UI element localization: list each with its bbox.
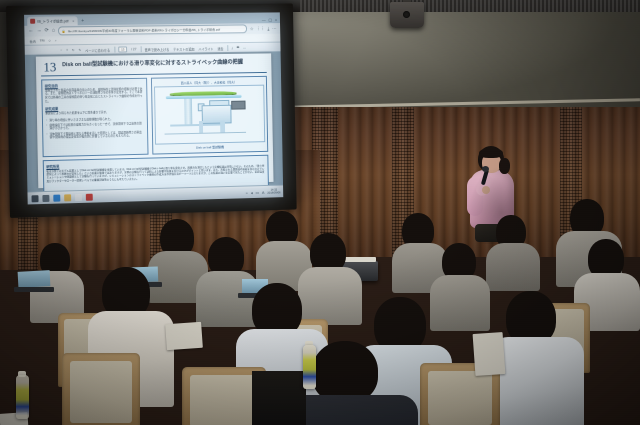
ceiling-grille: [300, 0, 640, 12]
tab-title: 06_トライボ総合.pdf: [37, 18, 68, 23]
lecture-hall-photo: 06_トライボ総合.pdf × + — ▢ × ← → ⟳ ⌂: [0, 0, 640, 425]
result-bullet: 流体潤滑下で理論値と異なる挙動を示した原因としては、理論潤滑厚さの算出値や潤滑剤…: [46, 131, 144, 141]
add-text-button[interactable]: テキストの追加: [173, 46, 194, 51]
results-intro: 本研究により得られた結果を以下に箇条書きで示す。: [45, 111, 143, 117]
laptop-screen[interactable]: [18, 270, 51, 288]
ceiling-speaker-icon: [390, 2, 424, 28]
back-icon[interactable]: ←: [28, 29, 33, 34]
attendee-torso: [486, 243, 540, 291]
machine-body-part: [202, 105, 232, 124]
handout-paper[interactable]: [165, 322, 203, 350]
column-part: [184, 99, 192, 125]
lock-icon: 🔒: [62, 29, 66, 33]
close-tab-icon[interactable]: ×: [72, 19, 74, 23]
purpose-body: 主組立された製品の表面品質の向上のため、摩擦特性と潤滑状態の把握が必要である。ま…: [45, 87, 143, 104]
browser-tab[interactable]: 06_トライボ総合.pdf ×: [27, 16, 77, 25]
slide-header: 13 Disk on ball型試験機における滑り率変化に対するストライベック曲…: [40, 57, 266, 76]
drink-bottle[interactable]: [16, 375, 29, 419]
maximize-icon[interactable]: ▢: [268, 17, 272, 22]
slide-title: Disk on ball型試験機における滑り率変化に対するストライベック曲線の把…: [62, 58, 243, 70]
laptop-base[interactable]: [14, 287, 54, 292]
more-menu-icon[interactable]: ⋯: [272, 26, 276, 32]
desk-surface: [252, 371, 306, 425]
pdf-file-icon: [30, 19, 35, 24]
chair-cushion: [190, 375, 258, 425]
save-icon[interactable]: ⤓: [231, 46, 232, 50]
bookmark-item[interactable]: ⌕: [55, 38, 57, 42]
rotate-button[interactable]: ↻: [72, 48, 75, 52]
minimize-icon[interactable]: —: [262, 17, 266, 22]
slide-content: 研究目的 主組立された製品の表面品質の向上のため、摩擦特性と潤滑状態の把握が必要…: [41, 76, 268, 157]
forward-icon[interactable]: →: [36, 29, 41, 34]
print-icon[interactable]: 🖶: [237, 45, 240, 51]
diagram-caption: Disk on ball 型試験機: [196, 143, 224, 150]
audience-area: [0, 175, 640, 425]
favorite-icon[interactable]: ☆: [250, 26, 254, 32]
browser-actions: ☆ ⋮⋮ ⤓ ⋯: [250, 26, 277, 32]
highlight-button[interactable]: ハイライト: [198, 46, 213, 51]
leg-part: [220, 121, 225, 132]
presenter-ponytail: [499, 158, 510, 174]
presenter-bangs: [479, 148, 503, 158]
base-frame-part: [164, 132, 246, 135]
erase-button[interactable]: 消去: [217, 46, 223, 51]
zoom-in-button[interactable]: +: [66, 48, 68, 52]
slide-number: 13: [40, 60, 56, 73]
attendee-torso: [298, 267, 362, 325]
chair-cushion: [70, 361, 132, 423]
bookmark-item[interactable]: TRI: [40, 39, 45, 43]
handout-paper[interactable]: [473, 332, 506, 376]
disk-plate-part: [166, 94, 242, 99]
diagram-panel: 西川基人（同大（院））、大窪和也（同大）: [150, 76, 267, 155]
test-machine-diagram: [154, 85, 265, 145]
base-plate-part: [170, 123, 222, 126]
collections-icon[interactable]: ⋮⋮: [256, 26, 264, 32]
zoom-out-button[interactable]: −: [60, 48, 62, 52]
research-text-panel: 研究目的 主組立された製品の表面品質の向上のため、摩擦特性と潤滑状態の把握が必要…: [41, 78, 148, 157]
reload-icon[interactable]: ⟳: [45, 28, 49, 33]
read-aloud-button[interactable]: 音声で読み上げる: [145, 46, 170, 51]
drink-bottle[interactable]: [303, 345, 316, 389]
attendee-torso: [430, 275, 490, 331]
new-tab-button[interactable]: +: [79, 18, 87, 25]
attendee-torso: [490, 337, 584, 425]
home-icon[interactable]: ⌂: [52, 28, 55, 33]
page-total-label: / 27: [131, 47, 136, 51]
draw-button[interactable]: ✎: [79, 48, 82, 52]
page-number-input[interactable]: 13: [118, 46, 127, 53]
browser-window: 06_トライボ総合.pdf × + — ▢ × ← → ⟳ ⌂: [24, 12, 281, 56]
downloads-icon[interactable]: ⤓: [267, 26, 269, 32]
slide-page: 13 Disk on ball型試験機における滑り率変化に対するストライベック曲…: [35, 53, 273, 188]
drive-motor-part: [231, 100, 246, 109]
window-controls: — ▢ ×: [262, 17, 280, 23]
attendee-head: [312, 341, 378, 403]
microphone-head-icon: [482, 166, 489, 172]
close-window-icon[interactable]: ×: [275, 17, 277, 22]
bookmark-item[interactable]: 社内: [29, 38, 35, 43]
more-options-icon[interactable]: ⋯: [243, 46, 246, 50]
pdf-page-area[interactable]: 13 Disk on ball型試験機における滑り率変化に対するストライベック曲…: [25, 51, 283, 194]
leg-part: [199, 121, 204, 132]
fit-page-button[interactable]: ページに合わせる: [85, 47, 110, 52]
bookmark-item[interactable]: ◇: [48, 38, 50, 42]
chair-cushion: [428, 371, 492, 425]
address-bar-value: file:///R:/kenkyu/24/06/06/平成30年度フォーラム報告…: [68, 27, 220, 34]
